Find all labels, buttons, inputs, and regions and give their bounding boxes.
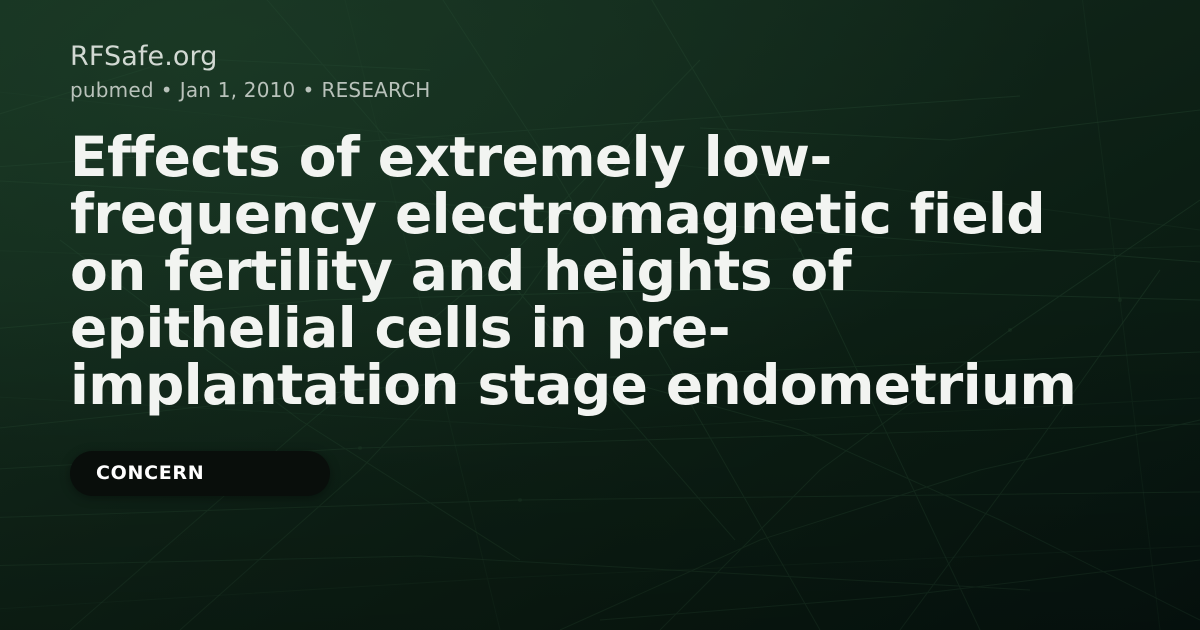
- badge-row: CONCERN: [70, 451, 1130, 496]
- meta-category: RESEARCH: [321, 77, 430, 103]
- page-title: Effects of extremely low-frequency elect…: [70, 129, 1115, 414]
- meta-separator-bullet-icon-2: •: [295, 77, 321, 103]
- meta-separator-bullet-icon: •: [154, 77, 180, 103]
- card-content: RFSafe.org pubmed • Jan 1, 2010 • RESEAR…: [70, 40, 1130, 496]
- status-badge: CONCERN: [70, 451, 330, 496]
- meta-source: pubmed: [70, 77, 154, 103]
- article-meta: pubmed • Jan 1, 2010 • RESEARCH: [70, 77, 1130, 103]
- site-name: RFSafe.org: [70, 40, 1130, 74]
- article-share-card: RFSafe.org pubmed • Jan 1, 2010 • RESEAR…: [0, 0, 1200, 630]
- meta-date: Jan 1, 2010: [180, 77, 296, 103]
